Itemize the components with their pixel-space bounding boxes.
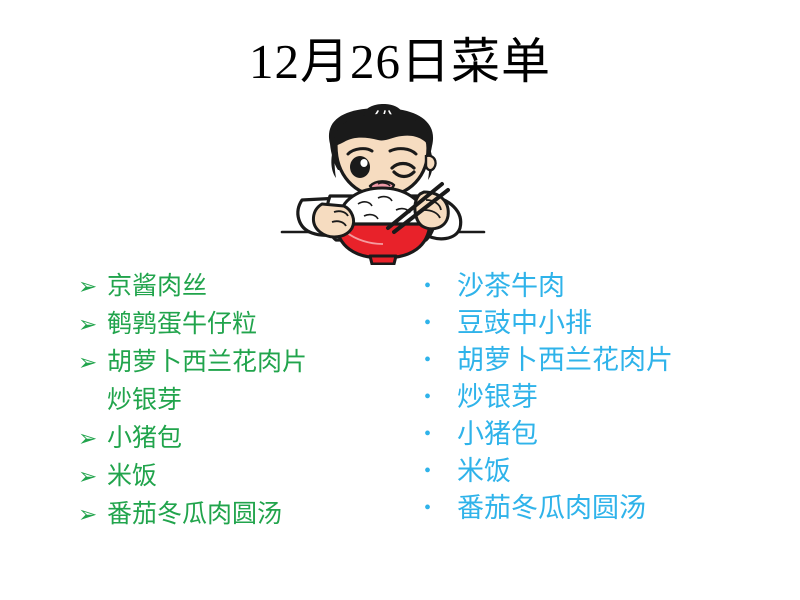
list-item: • 小猪包 <box>424 416 754 453</box>
list-item: ➢ 京酱肉丝 <box>78 268 398 306</box>
boy-eating-rice-illustration <box>278 100 488 265</box>
list-item-label: 小猪包 <box>457 416 754 453</box>
dot-bullet-icon: • <box>424 342 457 379</box>
dot-bullet-icon: • <box>424 453 457 490</box>
page-title: 12月26日菜单 <box>0 34 800 90</box>
list-item-label: 沙茶牛肉 <box>457 268 754 305</box>
list-item-label: 胡萝卜西兰花肉片 <box>107 344 398 382</box>
list-item-label: 小猪包 <box>107 420 398 458</box>
list-item: ➢ 小猪包 <box>78 420 398 458</box>
menu-list-left: ➢ 京酱肉丝 ➢ 鹌鹑蛋牛仔粒 ➢ 胡萝卜西兰花肉片 炒银芽 ➢ 小猪包 ➢ 米… <box>78 268 398 534</box>
list-item: ➢ 胡萝卜西兰花肉片 <box>78 344 398 382</box>
dot-bullet-icon: • <box>424 379 457 416</box>
list-item: • 胡萝卜西兰花肉片 <box>424 342 754 379</box>
list-item-label: 米饭 <box>107 458 398 496</box>
menu-list-right: • 沙茶牛肉 • 豆豉中小排 • 胡萝卜西兰花肉片 • 炒银芽 • 小猪包 • <box>424 268 754 527</box>
list-item-label: 胡萝卜西兰花肉片 <box>457 342 754 379</box>
list-item-label: 番茄冬瓜肉圆汤 <box>457 490 754 527</box>
list-item: • 豆豉中小排 <box>424 305 754 342</box>
list-item-label: 炒银芽 <box>457 379 754 416</box>
arrow-bullet-icon: ➢ <box>78 458 107 496</box>
list-item: • 米饭 <box>424 453 754 490</box>
list-item-label: 豆豉中小排 <box>457 305 754 342</box>
dot-bullet-icon: • <box>424 268 457 305</box>
list-item-label: 鹌鹑蛋牛仔粒 <box>107 306 398 344</box>
dot-bullet-icon: • <box>424 305 457 342</box>
dot-bullet-icon: • <box>424 490 457 527</box>
arrow-bullet-icon: ➢ <box>78 268 107 306</box>
list-item-label: 米饭 <box>457 453 754 490</box>
list-item: ➢ 米饭 <box>78 458 398 496</box>
list-item: ➢ 番茄冬瓜肉圆汤 <box>78 496 398 534</box>
arrow-bullet-icon: ➢ <box>78 344 107 382</box>
arrow-bullet-icon: ➢ <box>78 420 107 458</box>
arrow-bullet-icon: ➢ <box>78 496 107 534</box>
menu-lists: ➢ 京酱肉丝 ➢ 鹌鹑蛋牛仔粒 ➢ 胡萝卜西兰花肉片 炒银芽 ➢ 小猪包 ➢ 米… <box>0 268 800 538</box>
list-item: ➢ 鹌鹑蛋牛仔粒 <box>78 306 398 344</box>
list-item-label: 京酱肉丝 <box>107 268 398 306</box>
list-item-subline: 炒银芽 <box>78 382 398 420</box>
list-item: • 番茄冬瓜肉圆汤 <box>424 490 754 527</box>
list-item-label: 番茄冬瓜肉圆汤 <box>107 496 398 534</box>
arrow-bullet-icon: ➢ <box>78 306 107 344</box>
dot-bullet-icon: • <box>424 416 457 453</box>
menu-slide: 12月26日菜单 <box>0 0 800 600</box>
list-item: • 沙茶牛肉 <box>424 268 754 305</box>
list-item: • 炒银芽 <box>424 379 754 416</box>
